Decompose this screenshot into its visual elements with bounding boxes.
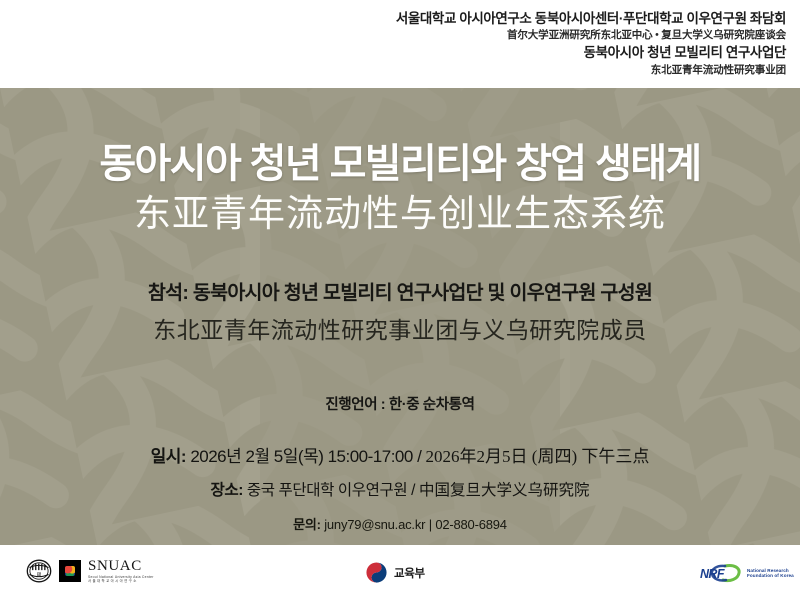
poster-footer: 國 SNUAC Seoul National University Asia C…	[0, 545, 800, 600]
poster-header: 서울대학교 아시아연구소 동북아시아센터·푸단대학교 이우연구원 좌담회 首尔大…	[0, 0, 800, 88]
event-contact-line: 문의: juny79@snu.ac.kr | 02-880-6894	[0, 518, 800, 531]
ministry-of-education-logo: 교육부	[365, 561, 425, 584]
contact-email[interactable]: juny79@snu.ac.kr	[324, 517, 425, 532]
header-line-korean-secondary: 동북아시아 청년 모빌리티 연구사업단	[0, 44, 786, 63]
date-label: 일시:	[151, 447, 186, 466]
snuac-logo-group: 國 SNUAC Seoul National University Asia C…	[26, 558, 154, 584]
main-title-chinese: 东亚青年流动性与创业生态系统	[0, 196, 800, 233]
ministry-of-education-label: 교육부	[394, 565, 425, 581]
interpretation-language-line: 진행언어 : 한·중 순차통역	[0, 398, 800, 413]
date-separator: /	[417, 447, 421, 466]
nrf-subtitle-line2: Foundation of Korea	[747, 573, 794, 578]
taegeuk-icon	[365, 561, 388, 584]
nrf-mark-icon: NRF	[700, 563, 742, 583]
snu-emblem-icon: 國	[26, 558, 52, 584]
event-venue-line: 장소: 중국 푸단대학 이우연구원 / 中国复旦大学义乌研究院	[0, 483, 800, 499]
snuac-word: SNUAC	[88, 559, 154, 574]
venue-separator: /	[411, 482, 415, 499]
venue-label: 장소:	[211, 482, 243, 499]
date-chinese: 2026年2月5日 (周四) 下午三点	[426, 447, 650, 466]
venue-korean: 중국 푸단대학 이우연구원	[247, 482, 407, 499]
venue-chinese: 中国复旦大学义乌研究院	[419, 482, 590, 499]
svg-text:國: 國	[37, 573, 42, 579]
nrf-wordmark: NRF	[700, 567, 724, 581]
contact-separator: |	[429, 517, 432, 532]
snuac-wordmark: SNUAC Seoul National University Asia Cen…	[88, 559, 154, 584]
snuac-color-dot-icon	[65, 566, 75, 576]
header-line-korean-primary: 서울대학교 아시아연구소 동북아시아센터·푸단대학교 이우연구원 좌담회	[0, 11, 786, 28]
participants-chinese: 东北亚青年流动性研究事业团与义乌研究院成员	[0, 319, 800, 342]
snuac-subtitle-korean: 서울대학교아시아연구소	[88, 580, 154, 583]
event-date-line: 일시: 2026년 2월 5일(목) 15:00-17:00 / 2026年2月…	[0, 448, 800, 465]
contact-label: 문의:	[293, 517, 321, 532]
poster-body-panel: 동아시아 청년 모빌리티와 창업 생태계 东亚青年流动性与创业生态系统 참석: …	[0, 88, 800, 545]
nrf-subtitle: National Research Foundation of Korea	[747, 568, 794, 579]
contact-phone: 02-880-6894	[435, 517, 507, 532]
header-line-chinese-primary: 首尔大学亚洲研究所东北亚中心 • 复旦大学义乌研究院座谈会	[0, 28, 786, 44]
snuac-square-icon	[59, 560, 81, 582]
nrf-logo: NRF National Research Foundation of Kore…	[700, 563, 794, 583]
poster-content: 동아시아 청년 모빌리티와 창업 생태계 东亚青年流动性与创业生态系统 참석: …	[0, 88, 800, 545]
participants-korean: 참석: 동북아시아 청년 모빌리티 연구사업단 및 이우연구원 구성원	[0, 284, 800, 304]
poster-root: 서울대학교 아시아연구소 동북아시아센터·푸단대학교 이우연구원 좌담회 首尔大…	[0, 0, 800, 600]
main-title-korean: 동아시아 청년 모빌리티와 창업 생태계	[0, 144, 800, 184]
date-korean: 2026년 2월 5일(목) 15:00-17:00	[190, 447, 413, 466]
header-line-chinese-secondary: 东北亚青年流动性研究事业团	[0, 63, 786, 78]
